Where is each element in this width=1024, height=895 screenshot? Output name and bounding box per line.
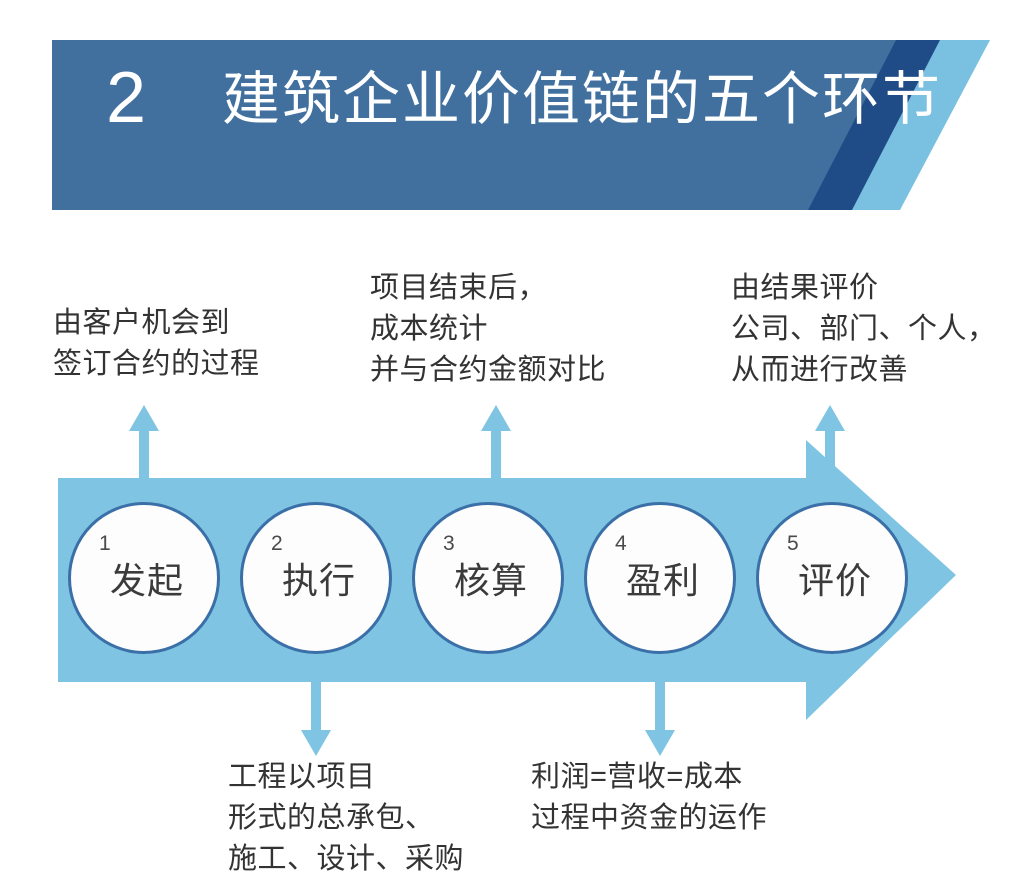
- stage-number-4: 4: [615, 533, 627, 554]
- stage-label-5: 评价: [759, 561, 911, 601]
- connector-up-stage-5: [810, 405, 850, 485]
- stage-label-3: 核算: [415, 561, 567, 601]
- stage-circle-2[interactable]: 2 执行: [240, 502, 392, 654]
- stage-circle-1[interactable]: 1 发起: [68, 502, 220, 654]
- header-section-number: 2: [106, 62, 147, 134]
- header-text-layer: 2 建筑企业价值链的五个环节: [0, 40, 1024, 210]
- note-top-stage-3: 项目结束后， 成本统计 并与合约金额对比: [370, 268, 606, 392]
- stage-label-1: 发起: [71, 561, 223, 601]
- note-top-stage-5: 由结果评价 公司、部门、个人， 从而进行改善: [731, 268, 997, 392]
- header-divider-slash: [0, 40, 56, 166]
- stage-circle-5[interactable]: 5 评价: [756, 502, 908, 654]
- connector-down-stage-2: [296, 678, 336, 756]
- note-bottom-stage-2: 工程以项目 形式的总承包、 施工、设计、采购: [228, 757, 464, 881]
- note-bottom-stage-4: 利润=营收=成本 过程中资金的运作: [531, 757, 767, 839]
- connector-up-stage-1: [124, 405, 164, 485]
- stage-circle-3[interactable]: 3 核算: [412, 502, 564, 654]
- stage-number-3: 3: [443, 533, 455, 554]
- stage-label-2: 执行: [243, 561, 395, 601]
- connector-down-stage-4: [640, 678, 680, 756]
- stage-number-2: 2: [271, 533, 283, 554]
- page-title: 建筑企业价值链的五个环节: [222, 68, 942, 132]
- connector-up-stage-3: [476, 405, 516, 485]
- stage-label-4: 盈利: [587, 561, 739, 601]
- note-top-stage-1: 由客户机会到 签订合约的过程: [53, 303, 260, 385]
- header-banner: 2 建筑企业价值链的五个环节: [0, 40, 1024, 210]
- stage-circle-4[interactable]: 4 盈利: [584, 502, 736, 654]
- stage-number-5: 5: [787, 533, 799, 554]
- stage-number-1: 1: [99, 533, 111, 554]
- slide-canvas: 2 建筑企业价值链的五个环节 1 发起 2 执行 3 核算 4 盈利 5 评价: [0, 0, 1024, 895]
